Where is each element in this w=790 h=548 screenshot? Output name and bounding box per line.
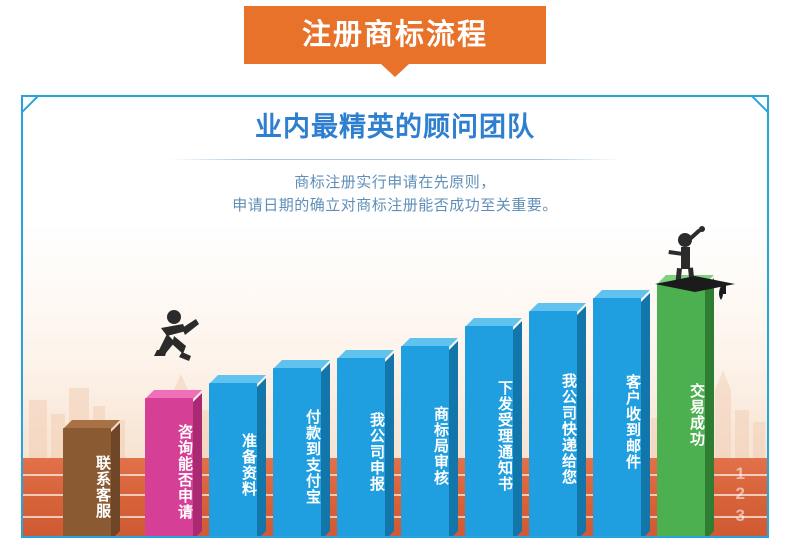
chart-scene: 1 2 3 联系客服 咨询能 [23, 223, 767, 536]
bar-label: 我公司申报 [337, 358, 385, 536]
bar-side-face [577, 306, 586, 536]
chart-bar: 我公司申报 [337, 358, 385, 536]
bar-side-face [111, 423, 120, 536]
bar-label: 客户收到邮件 [593, 298, 641, 536]
bar-front-face: 联系客服 [63, 428, 111, 536]
bar-front-face: 下发受理通知书 [465, 326, 513, 536]
main-card: 业内最精英的顾问团队 商标注册实行申请在先原则， 申请日期的确立对商标注册能否成… [21, 95, 769, 538]
bar-label: 准备资料 [209, 383, 257, 536]
bar-front-face: 交易成功 [657, 283, 705, 536]
bar-label: 下发受理通知书 [465, 326, 513, 536]
banner-arrow-icon [381, 64, 409, 77]
chart-bar: 准备资料 [209, 383, 257, 536]
bar-front-face: 商标局审核 [401, 346, 449, 536]
chart-bar: 咨询能否申请 [145, 398, 193, 536]
bar-front-face: 我公司快递给您 [529, 311, 577, 536]
bar-side-face [385, 353, 394, 536]
bar-side-face [705, 278, 714, 536]
chart-bar: 交易成功 [657, 283, 705, 536]
chart-bar: 下发受理通知书 [465, 326, 513, 536]
bar-label: 商标局审核 [401, 346, 449, 536]
bar-label: 付款到支付宝 [273, 368, 321, 536]
bar-front-face: 我公司申报 [337, 358, 385, 536]
bar-front-face: 付款到支付宝 [273, 368, 321, 536]
chart-bar: 商标局审核 [401, 346, 449, 536]
bar-label: 我公司快递给您 [529, 311, 577, 536]
bar-side-face [257, 378, 266, 536]
bar-chart: 联系客服 咨询能否申请 准备资料 [23, 223, 767, 536]
bar-front-face: 准备资料 [209, 383, 257, 536]
bar-front-face: 咨询能否申请 [145, 398, 193, 536]
chart-bar: 联系客服 [63, 428, 111, 536]
bar-side-face [193, 393, 202, 536]
header-divider [169, 159, 621, 160]
subtitle-line-1: 商标注册实行申请在先原则， [23, 171, 767, 194]
bar-side-face [513, 321, 522, 536]
bar-side-face [321, 363, 330, 536]
card-header: 业内最精英的顾问团队 商标注册实行申请在先原则， 申请日期的确立对商标注册能否成… [23, 97, 767, 217]
bar-label: 咨询能否申请 [145, 398, 193, 536]
bar-label: 交易成功 [657, 283, 705, 536]
subtitle-line-2: 申请日期的确立对商标注册能否成功至关重要。 [23, 194, 767, 217]
top-banner: 注册商标流程 [0, 6, 790, 76]
banner-title: 注册商标流程 [302, 21, 488, 50]
bar-front-face: 客户收到邮件 [593, 298, 641, 536]
bar-side-face [449, 341, 458, 536]
chart-bar: 付款到支付宝 [273, 368, 321, 536]
banner-box: 注册商标流程 [244, 6, 546, 64]
bar-label: 联系客服 [63, 428, 111, 536]
chart-bar: 我公司快递给您 [529, 311, 577, 536]
chart-bar: 客户收到邮件 [593, 298, 641, 536]
bar-side-face [641, 293, 650, 536]
runner-icon [141, 306, 203, 368]
graduate-figure-icon [647, 223, 743, 300]
page-root: 注册商标流程 业内最精英的顾问团队 商标注册实行申请在先原则， 申请日期的确立对… [0, 0, 790, 548]
page-title: 业内最精英的顾问团队 [23, 113, 767, 143]
